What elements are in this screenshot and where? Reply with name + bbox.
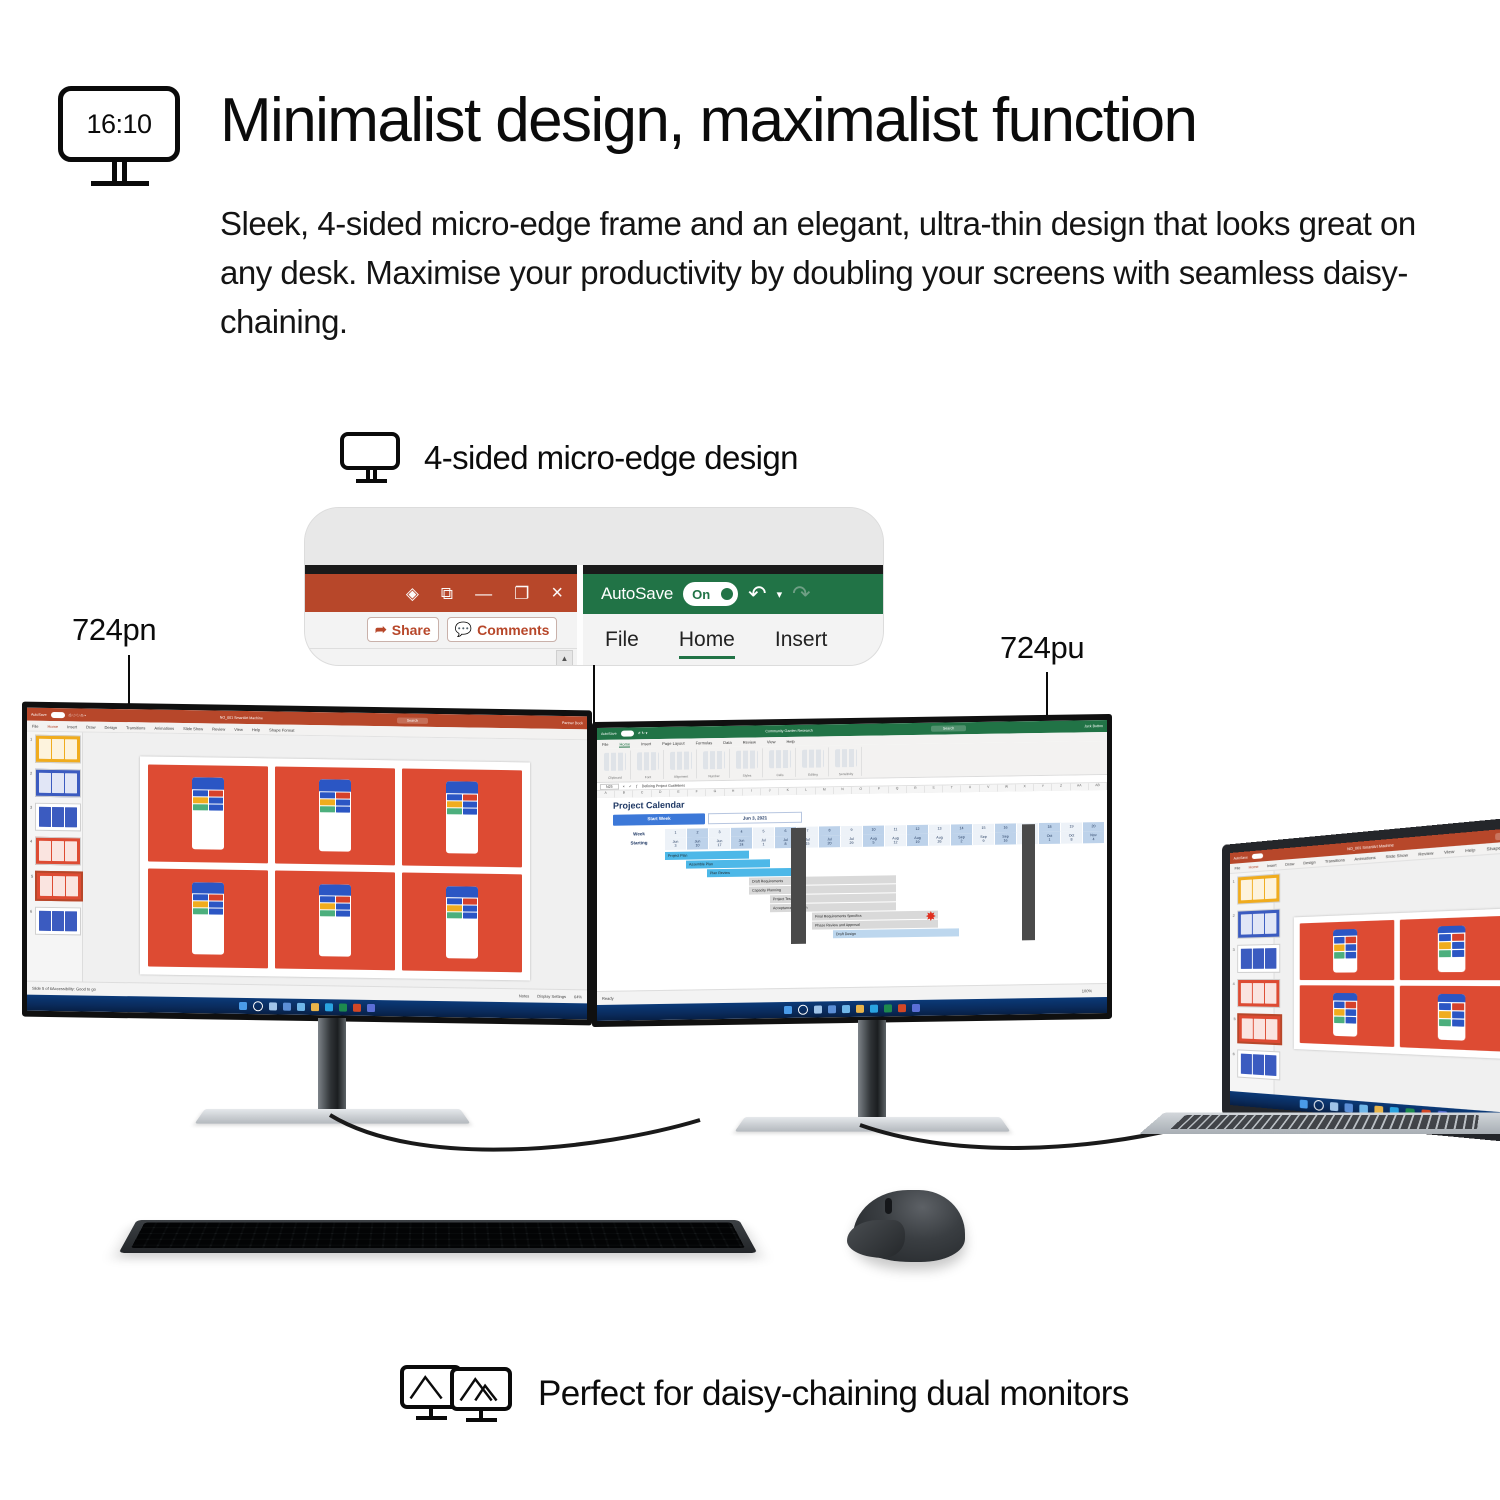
- powerpoint-icon[interactable]: [898, 1004, 906, 1012]
- chat-icon[interactable]: [297, 1003, 305, 1011]
- formula-cancel-icon[interactable]: ×: [623, 784, 625, 788]
- notes-button[interactable]: Notes: [519, 993, 529, 998]
- slide-thumbnail[interactable]: 1: [1237, 873, 1280, 904]
- thumbnail-cell: [66, 876, 78, 896]
- gantt-bar[interactable]: Draft Design: [833, 929, 959, 939]
- tab-home[interactable]: Home: [47, 723, 58, 728]
- group-icon: [736, 750, 758, 768]
- phone-tile: [1346, 1016, 1357, 1023]
- week-start-cell[interactable]: Jun24: [731, 837, 753, 850]
- laptop-slide-grid: [1300, 915, 1500, 1051]
- scroll-up-button[interactable]: ▲: [556, 650, 573, 665]
- name-box[interactable]: N25: [600, 783, 619, 789]
- tab-review[interactable]: Review: [212, 726, 225, 731]
- slide-content-grid: [148, 764, 522, 972]
- week-start-cell[interactable]: Aug19: [907, 834, 929, 847]
- excel-icon[interactable]: [884, 1004, 892, 1012]
- thumbnail-cell: [65, 739, 77, 759]
- week-start-cell[interactable]: Aug12: [885, 834, 907, 847]
- footer-caption-group: Perfect for daisy-chaining dual monitors: [400, 1365, 1129, 1423]
- thumbnail-cell: [1253, 879, 1264, 900]
- thumbnail-cell: [39, 911, 51, 931]
- tab-file[interactable]: File: [32, 723, 38, 728]
- search-input[interactable]: Search: [931, 725, 966, 732]
- search-icon[interactable]: [798, 1005, 808, 1015]
- document-filename: NO_001 SmartArt Machine: [1347, 843, 1394, 851]
- group-icon: [802, 749, 824, 767]
- phone-tile: [209, 804, 223, 810]
- formula-fx-icon[interactable]: ƒ: [636, 784, 638, 788]
- explorer-icon[interactable]: [311, 1003, 319, 1011]
- tab-view[interactable]: View: [767, 739, 776, 744]
- tab-help[interactable]: Help: [1465, 847, 1475, 854]
- aspect-ratio-value: 16:10: [86, 109, 151, 140]
- group-icon: [604, 753, 626, 771]
- tab-file[interactable]: File: [602, 742, 608, 747]
- week-number-cell[interactable]: 3: [709, 828, 731, 837]
- phone-mockup: [446, 781, 477, 854]
- page-headline: Minimalist design, maximalist function: [220, 88, 1450, 153]
- mouse-thumb-rest: [847, 1220, 905, 1258]
- desktop-keyboard[interactable]: [128, 1205, 748, 1267]
- week-start-cell[interactable]: Jul29: [841, 835, 863, 848]
- quick-access-icons[interactable]: ↺ ↻ ▾: [638, 731, 648, 735]
- phone-tile: [1452, 942, 1464, 949]
- excel-icon[interactable]: [339, 1004, 347, 1012]
- thumbnail-content: [39, 739, 77, 760]
- slide-number: 4: [1233, 981, 1235, 986]
- slide-thumbnail[interactable]: 2: [35, 769, 81, 798]
- gantt-bar[interactable]: Project Plan: [665, 851, 749, 860]
- gantt-bar[interactable]: Assemble Plan: [686, 860, 770, 869]
- phone-tile: [209, 790, 223, 796]
- phone-header: [192, 777, 223, 789]
- week-start-cell[interactable]: Jul1: [753, 836, 775, 849]
- phone-tile: [1452, 950, 1464, 957]
- minimize-icon[interactable]: —: [475, 585, 492, 602]
- tab-animations[interactable]: Animations: [1354, 855, 1375, 862]
- week-start-cell[interactable]: Sep9: [973, 833, 995, 846]
- slide-thumbnail[interactable]: 4: [1237, 979, 1280, 1008]
- week-start-cell[interactable]: Jun17: [709, 837, 731, 850]
- callout-pointer-line: [593, 665, 595, 725]
- laptop-thumbnail-panel[interactable]: 123456: [1230, 871, 1274, 1095]
- phone-tile: [320, 910, 334, 916]
- tab-draw[interactable]: Draw: [86, 724, 95, 729]
- phone-tile: [320, 799, 334, 805]
- tab-animations[interactable]: Animations: [154, 725, 174, 730]
- thumbnail-cell: [1265, 983, 1276, 1004]
- ribbon-group-cells[interactable]: Cells: [765, 748, 796, 777]
- phone-tile: [1439, 1011, 1451, 1018]
- micro-edge-label-group: 4-sided micro-edge design: [340, 432, 798, 484]
- marketing-page: 16:10 Minimalist design, maximalist func…: [0, 0, 1500, 1500]
- dual-monitor-front-foot: [466, 1418, 497, 1422]
- search-icon[interactable]: [1314, 1100, 1324, 1111]
- phone-tile: [447, 898, 461, 904]
- share-button[interactable]: ➦ Share: [367, 617, 439, 642]
- week-start-cell[interactable]: Jul20: [819, 835, 841, 848]
- tab-shape-format[interactable]: Shape Format: [269, 727, 294, 732]
- tab-review[interactable]: Review: [743, 740, 756, 745]
- start-icon[interactable]: [784, 1006, 792, 1014]
- ribbon-group-number[interactable]: Number: [699, 749, 730, 778]
- week-start-cell[interactable]: Jun10: [687, 837, 709, 850]
- thumbnail-content: [39, 911, 77, 932]
- autosave-toggle[interactable]: [1252, 853, 1263, 859]
- laptop-keyboard-deck[interactable]: [1170, 1115, 1479, 1129]
- taskview-icon[interactable]: [814, 1005, 822, 1013]
- slide-thumbnail[interactable]: 3: [35, 803, 81, 832]
- chat-icon[interactable]: [842, 1005, 850, 1013]
- diamond-icon[interactable]: ◈: [406, 585, 419, 602]
- group-label: Alignment: [674, 775, 688, 779]
- thumbnail-cell: [65, 911, 77, 931]
- gantt-bar[interactable]: Plan Review: [707, 868, 791, 877]
- mountain-glyph-right: [454, 1371, 508, 1407]
- phone-tile: [193, 790, 207, 796]
- phone-tile: [193, 804, 207, 810]
- explorer-icon[interactable]: [856, 1005, 864, 1013]
- slide-image-cell: [1399, 915, 1500, 980]
- phone-tile: [447, 905, 461, 911]
- tab-view[interactable]: View: [234, 726, 243, 731]
- powerpoint-icon[interactable]: [353, 1004, 361, 1012]
- tab-slide-show[interactable]: Slide Show: [183, 726, 203, 731]
- thumbnail-cell: [1241, 914, 1252, 935]
- cable-right: [860, 1125, 1180, 1148]
- left-monitor-label: 724pn: [72, 612, 156, 648]
- ribbon-group-styles[interactable]: Styles: [732, 748, 763, 777]
- thumbnail-cell: [1253, 948, 1264, 969]
- formula-accept-icon[interactable]: ✓: [629, 784, 632, 788]
- phone-tile: [1439, 1019, 1451, 1026]
- slide-thumbnail[interactable]: 6: [1237, 1049, 1280, 1080]
- excel-titlebar: AutoSave On ↶ ▾ ↷: [583, 574, 883, 614]
- autosave-toggle[interactable]: [621, 730, 634, 736]
- tab-design[interactable]: Design: [104, 724, 116, 729]
- week-start-cell[interactable]: Oct1: [1039, 832, 1061, 845]
- footer-caption: Perfect for daisy-chaining dual monitors: [538, 1374, 1129, 1414]
- week-start-cell[interactable]: Aug26: [929, 833, 951, 846]
- phone-tile: [193, 894, 207, 900]
- thumbnail-cell: [1242, 1018, 1253, 1039]
- tab-data[interactable]: Data: [723, 740, 731, 745]
- tab-home[interactable]: Home: [619, 741, 630, 747]
- right-monitor-label: 724pu: [1000, 630, 1084, 666]
- thumbnail-content: [40, 876, 78, 897]
- tab-slide-show[interactable]: Slide Show: [1386, 852, 1408, 859]
- week-number-cell[interactable]: 20: [1083, 822, 1105, 831]
- group-icon: [835, 749, 857, 767]
- thumbnail-content: [1241, 1054, 1277, 1076]
- undo-icon[interactable]: ↶: [748, 583, 766, 605]
- phone-tile: [193, 901, 207, 907]
- tab-help[interactable]: Help: [786, 739, 794, 744]
- thumbnail-content: [1241, 948, 1277, 969]
- comments-button[interactable]: 💬 Comments: [447, 617, 558, 642]
- user-account-label[interactable]: Jack Button: [1084, 724, 1103, 728]
- mouse-scroll-wheel[interactable]: [885, 1198, 892, 1214]
- thumbnail-cell: [1265, 913, 1276, 934]
- laptop-current-slide[interactable]: [1294, 908, 1500, 1059]
- group-label: Styles: [743, 774, 752, 778]
- week-start-cell[interactable]: Sep2: [951, 833, 973, 846]
- phone-header: [446, 886, 477, 898]
- phone-tile: [463, 808, 477, 814]
- slide-number: 5: [31, 874, 33, 879]
- phone-tile: [1346, 1001, 1357, 1008]
- tab-insert[interactable]: Insert: [1267, 862, 1277, 868]
- laptop-slide-area: [1274, 851, 1500, 1115]
- undo-chevron-down-icon[interactable]: ▾: [777, 588, 783, 601]
- thumbnail-cell: [1266, 1019, 1277, 1040]
- week-number-cell[interactable]: 19: [1061, 822, 1083, 831]
- phone-tile-grid: [319, 895, 350, 917]
- restore-icon[interactable]: ❐: [514, 585, 529, 602]
- week-start-cell[interactable]: Jun3: [665, 838, 687, 851]
- week-number-cell[interactable]: 14: [951, 824, 973, 833]
- tab-page-layout[interactable]: Page Layout: [662, 741, 684, 746]
- excel-ribbon-tabs: File Home Insert: [583, 614, 883, 665]
- ready-status: Ready: [602, 996, 614, 1001]
- group-label: Clipboard: [608, 776, 622, 780]
- accessibility-status[interactable]: Accessibility: Good to go: [52, 986, 96, 992]
- autosave-label: AutoSave: [1234, 855, 1248, 860]
- widgets-icon[interactable]: [1345, 1103, 1353, 1112]
- callout-right-bezel: [583, 565, 883, 574]
- widgets-icon[interactable]: [828, 1005, 836, 1013]
- formula-input[interactable]: Defining Project Guidelines: [642, 783, 685, 788]
- phone-tile: [1346, 937, 1357, 944]
- week-number-cell[interactable]: 8: [819, 826, 841, 835]
- autosave-label: AutoSave: [31, 712, 47, 716]
- store-icon[interactable]: [367, 1004, 375, 1012]
- slide-thumbnail[interactable]: 5: [1237, 1013, 1282, 1045]
- callout-excel-pane: AutoSave On ↶ ▾ ↷ File Home Insert: [583, 565, 883, 665]
- phone-tile: [1439, 1002, 1451, 1009]
- slide-thumbnail-panel[interactable]: 123456: [27, 732, 83, 996]
- week-number-cell[interactable]: 2: [687, 828, 709, 837]
- phone-tile: [1452, 1019, 1464, 1026]
- phone-mockup: [319, 779, 350, 852]
- comments-label: Comments: [477, 622, 549, 638]
- laptop-screen: AutoSave NO_001 SmartArt Machine Search …: [1230, 826, 1500, 1133]
- divider-line: [305, 648, 577, 649]
- tab-transitions[interactable]: Transitions: [126, 725, 145, 730]
- tab-file[interactable]: File: [1235, 865, 1241, 870]
- week-number-cell[interactable]: 13: [929, 824, 951, 833]
- phone-tile-grid: [192, 893, 223, 915]
- phone-tile: [336, 904, 350, 910]
- zoom-level[interactable]: 64%: [574, 994, 582, 999]
- slide-thumbnail[interactable]: 6: [35, 907, 81, 936]
- milestone-star-icon: ✸: [925, 910, 936, 923]
- start-icon[interactable]: [239, 1002, 247, 1010]
- ribbon-group-sensitivity[interactable]: Sensitivity: [831, 747, 862, 776]
- badge-screen-shape: 16:10: [58, 86, 180, 162]
- phone-mockup: [192, 777, 223, 850]
- taskview-icon[interactable]: [1330, 1102, 1338, 1111]
- redo-icon[interactable]: ↷: [792, 583, 810, 605]
- start-icon[interactable]: [1300, 1100, 1308, 1109]
- start-week-label: Start Week: [613, 813, 705, 825]
- week-number-cell[interactable]: 11: [885, 825, 907, 834]
- week-number-cell[interactable]: 16: [995, 823, 1017, 832]
- phone-mockup: [1437, 925, 1465, 972]
- thumbnail-cell: [65, 807, 77, 827]
- phone-tile: [463, 801, 477, 807]
- week-start-cell[interactable]: Oct8: [1061, 831, 1083, 844]
- slide-number: 5: [1234, 1016, 1236, 1021]
- edge-icon[interactable]: [325, 1003, 333, 1011]
- phone-tile: [1439, 942, 1451, 949]
- keyboard-keys: [131, 1223, 745, 1248]
- phone-tile: [209, 902, 223, 908]
- slide-image-cell: [1399, 986, 1500, 1051]
- slide-thumbnail[interactable]: 5: [35, 871, 83, 902]
- slide-image-cell: [1300, 985, 1394, 1046]
- store-icon[interactable]: [912, 1004, 920, 1012]
- slide-thumbnail[interactable]: 2: [1237, 909, 1280, 939]
- phone-mockup: [446, 886, 477, 959]
- powerpoint-workspace: 123456: [27, 732, 587, 1004]
- slide-thumbnail[interactable]: 1: [35, 735, 81, 764]
- thumbnail-cell: [39, 773, 51, 793]
- phone-tile: [447, 912, 461, 918]
- week-number-cell[interactable]: 9: [841, 826, 863, 835]
- phone-tile-grid: [446, 793, 477, 815]
- cable-left: [330, 1115, 700, 1150]
- tab-design[interactable]: Design: [1303, 859, 1315, 865]
- current-slide[interactable]: [140, 756, 530, 980]
- tab-insert[interactable]: Insert: [775, 628, 828, 652]
- phone-tile: [447, 794, 461, 800]
- thumbnail-cell: [1241, 880, 1252, 901]
- phone-header: [319, 884, 350, 896]
- thumbnail-cell: [52, 911, 64, 931]
- autosave-toggle[interactable]: On: [683, 582, 738, 606]
- phone-tile: [463, 794, 477, 800]
- dual-monitor-front-screen: [450, 1367, 512, 1411]
- slide-image-cell: [402, 768, 522, 867]
- display-settings-button[interactable]: Display Settings: [537, 994, 566, 999]
- phone-tile: [1334, 937, 1345, 944]
- tab-view[interactable]: View: [1444, 848, 1454, 855]
- tab-home[interactable]: Home: [679, 628, 735, 652]
- phone-mockup: [1333, 928, 1357, 972]
- tab-insert[interactable]: Insert: [641, 741, 651, 746]
- slide-thumbnail[interactable]: 4: [35, 837, 81, 866]
- phone-tile: [1439, 950, 1451, 957]
- week-start-cell[interactable]: Nov4: [1083, 831, 1105, 844]
- phone-mockup: [319, 884, 350, 957]
- phone-tile: [1334, 944, 1345, 951]
- search-input[interactable]: Search: [1495, 829, 1500, 840]
- search-input[interactable]: Search: [397, 717, 428, 723]
- thumbnail-cell: [1265, 878, 1276, 899]
- monitor-icon: [340, 432, 402, 484]
- phone-mockup: [1333, 993, 1357, 1037]
- week-number-cell[interactable]: 12: [907, 825, 929, 834]
- slide-image-cell: [275, 766, 395, 865]
- phone-tile-grid: [446, 897, 477, 919]
- laptop-workspace: 123456: [1230, 851, 1500, 1115]
- group-label: Font: [645, 775, 651, 779]
- thumbnail-cell: [40, 876, 52, 896]
- phone-tile: [320, 896, 334, 902]
- desktop-mouse[interactable]: [845, 1180, 970, 1272]
- phone-tile: [1452, 1011, 1464, 1018]
- phone-tile-grid: [1437, 1001, 1465, 1027]
- edge-icon[interactable]: [870, 1005, 878, 1013]
- tab-draw[interactable]: Draw: [1285, 861, 1294, 867]
- week-start-cell[interactable]: Aug5: [863, 834, 885, 847]
- slide-thumbnail[interactable]: 3: [1237, 944, 1280, 973]
- tab-formulas[interactable]: Formulas: [696, 740, 713, 745]
- tab-review[interactable]: Review: [1418, 850, 1433, 857]
- phone-tile: [193, 908, 207, 914]
- search-icon[interactable]: [253, 1001, 263, 1011]
- thumbnail-cell: [53, 876, 65, 896]
- phone-header: [319, 779, 350, 791]
- tab-insert[interactable]: Insert: [67, 724, 77, 729]
- thumbnail-cell: [1241, 1054, 1252, 1075]
- thumbnail-cell: [1253, 983, 1264, 1004]
- group-icon: [637, 752, 659, 770]
- week-number-cell[interactable]: 18: [1039, 823, 1061, 832]
- slide-number: 2: [30, 771, 32, 776]
- slide-number: 4: [30, 839, 32, 844]
- record-icon[interactable]: ⧉: [441, 585, 453, 602]
- phone-tile-grid: [192, 789, 223, 811]
- tab-home[interactable]: Home: [1249, 864, 1259, 870]
- slide-number: 3: [1233, 947, 1235, 952]
- week-number-cell[interactable]: 10: [863, 825, 885, 834]
- left-monitor-screen: AutoSave ⎙ ↺ ↻ ⎙ ▾ NO_001 SmartArt Machi…: [27, 708, 587, 1020]
- monitor-icon-screen: [340, 432, 400, 470]
- ribbon-group-font[interactable]: Font: [633, 750, 664, 779]
- slide-indicator: Slide 5 of 6: [32, 986, 52, 991]
- excel-worksheet[interactable]: Project Calendar Start Week Jun 3, 2021 …: [597, 790, 1107, 1005]
- ribbon-group-editing[interactable]: Editing: [798, 747, 829, 776]
- quick-access-icons[interactable]: ⎙ ↺ ↻ ⎙ ▾: [69, 713, 86, 717]
- week-number-cell[interactable]: 15: [973, 824, 995, 833]
- week-number-cell[interactable]: 1: [665, 829, 687, 838]
- widgets-icon[interactable]: [283, 1003, 291, 1011]
- ribbon-group-alignment[interactable]: Alignment: [666, 749, 697, 778]
- ribbon-group-clipboard[interactable]: Clipboard: [600, 750, 631, 779]
- group-label: Editing: [808, 773, 818, 777]
- week-number-cell[interactable]: 4: [731, 828, 753, 837]
- thumbnail-cell: [1241, 983, 1252, 1003]
- start-week-value[interactable]: Jun 3, 2021: [708, 812, 802, 824]
- zoom-level[interactable]: 100%: [1082, 988, 1092, 993]
- phone-tile: [209, 895, 223, 901]
- autosave-toggle[interactable]: [51, 711, 65, 717]
- week-start-cell[interactable]: Sep16: [995, 832, 1017, 845]
- tab-transitions[interactable]: Transitions: [1325, 857, 1345, 864]
- week-number-cell[interactable]: 5: [753, 827, 775, 836]
- close-icon[interactable]: ×: [551, 583, 563, 603]
- toggle-knob: [721, 588, 733, 600]
- tab-help[interactable]: Help: [252, 727, 260, 732]
- group-label: Cells: [776, 773, 783, 777]
- tab-shape-format[interactable]: Shape Format: [1487, 843, 1500, 851]
- tab-file[interactable]: File: [605, 628, 639, 652]
- user-account-label[interactable]: Partner Dock: [562, 721, 583, 725]
- taskview-icon[interactable]: [269, 1002, 277, 1010]
